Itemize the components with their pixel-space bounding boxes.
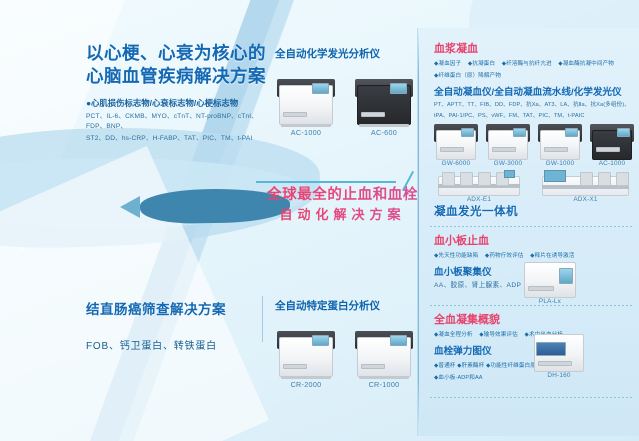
product-card[interactable]: GW-1000 [536,120,584,167]
product-card[interactable]: CR-1000 [353,327,415,389]
clia-group-heading: 全自动化学发光分析仪 [275,46,415,61]
product-card[interactable]: GW-6000 [432,120,480,167]
wholeblood-bullet: ◆凝血全程分析 [434,332,473,338]
clia-product-group: 全自动化学发光分析仪 AC-1000 AC-600 [275,46,415,137]
analyzer-illustration [530,330,588,372]
workflow-line-illustration [434,170,524,196]
arrow-tip-icon [120,196,140,218]
product-caption: CR-2000 [275,380,337,389]
product-caption: GW-1000 [536,160,584,167]
product-card[interactable]: GW-3000 [484,120,532,167]
product-card[interactable]: DH-160 [530,330,588,379]
product-card[interactable]: AC-1000 [588,120,636,167]
product-caption: AC-1000 [588,160,636,167]
analyzer-illustration [588,120,636,160]
analyzer-illustration [520,258,580,298]
cardio-markers-line2: ST2、DD、hs-CRP、H-FABP、TAT、PIC、TM、t-PAI [86,134,276,144]
cardio-markers-line1: PCT、IL-6、CKMB、MYO、cTnT、NT-proBNP、cTnI、FD… [86,112,276,131]
poster-canvas: 以心梗、心衰为核心的 心脑血管疾病解决方案 ●心肌损伤标志物/心衰标志物/心梗标… [0,0,639,441]
product-caption: ADX-X1 [538,196,633,203]
plasma-bullet: ◆凝血因子 [434,61,461,67]
wholeblood-bullet: ◆输导效果评估 [479,332,518,338]
wholeblood-title: 全血凝集概貌 [434,313,634,327]
product-caption: PLA-Lx [520,298,580,305]
plasma-bullets-row1: ◆凝血因子 ◆抗凝蛋白 ◆纤溶酶与抗纤亢进 ◆凝血酶抗凝中间产物 [434,60,634,68]
product-caption: GW-6000 [432,160,480,167]
product-caption: CR-1000 [353,380,415,389]
platelet-title: 血小板止血 [434,234,634,248]
plasma-bullet: ◆凝血酶抗凝中间产物 [558,61,614,67]
workflow-line-illustration [538,170,633,196]
colorectal-title: 结直肠癌筛查解决方案 [86,300,271,319]
platelet-bullet: ◆药物疗效评估 [485,253,524,259]
center-headline-line1: 全球最全的止血和血栓 [255,186,430,205]
plasma-device-row: GW-6000 GW-3000 GW-1000 AC-1000 [432,120,636,167]
plasma-footer-title: 凝血发光一体机 [434,205,634,219]
plasma-footer-title-wrap: 凝血发光一体机 [434,205,634,219]
cardio-title-line1: 以心梗、心衰为核心的 [86,42,276,65]
cardio-title-line2: 心脑血管疾病解决方案 [86,65,276,88]
plasma-bullet: ◆抗凝蛋白 [468,61,495,67]
analyzer-illustration [432,120,480,160]
product-caption: AC-1000 [275,128,337,137]
plasma-bullet: ◆纤维蛋白（原）降解产物 [434,73,501,79]
analyzer-illustration [353,75,415,125]
white-wedge-shape [0,146,269,441]
plasma-line-row: ADX-E1 ADX-X1 [434,170,633,203]
colorectal-solution-block: 结直肠癌筛查解决方案 FOB、钙卫蛋白、转铁蛋白 [86,300,271,352]
panel-dot-divider [430,397,632,398]
center-title-rule [256,181,396,183]
panel-dot-divider [430,305,632,306]
product-card[interactable]: AC-600 [353,75,415,137]
panel-dot-divider [430,226,632,227]
analyzer-illustration [275,327,337,377]
protein-product-group: 全自动特定蛋白分析仪 CR-2000 CR-1000 [275,298,415,389]
product-caption: ADX-E1 [434,196,524,203]
center-headline: 全球最全的止血和血栓 自动化解决方案 [255,186,430,224]
product-caption: AC-600 [353,128,415,137]
platelet-bullet: ◆先天性功能缺陷 [434,253,478,259]
product-caption: DH-160 [530,372,588,379]
analyzer-illustration [484,120,532,160]
analyzer-illustration [536,120,584,160]
cardio-bullet: ●心肌损伤标志物/心衰标志物/心梗标志物 [86,97,276,109]
panel-divider [418,28,419,429]
product-card[interactable]: PLA-Lx [520,258,580,305]
panel-section-plasma: 血浆凝血 ◆凝血因子 ◆抗凝蛋白 ◆纤溶酶与抗纤亢进 ◆凝血酶抗凝中间产物 ◆纤… [434,42,634,120]
product-card[interactable]: CR-2000 [275,327,337,389]
product-caption: GW-3000 [484,160,532,167]
colorectal-markers: FOB、钙卫蛋白、转铁蛋白 [86,337,271,352]
product-card[interactable]: ADX-E1 [434,170,524,203]
cardio-solution-block: 以心梗、心衰为核心的 心脑血管疾病解决方案 ●心肌损伤标志物/心衰标志物/心梗标… [86,42,276,144]
analyzer-illustration [353,327,415,377]
plasma-markers-line2: tPA、PAI-1/PC、PS、vWF、FM、TAT、PIC、TM、t-PAIC [434,112,634,120]
product-card[interactable]: ADX-X1 [538,170,633,203]
plasma-markers-line1: PT、APTT、TT、FIB、DD、FDP、抗Xa、AT3、LA、抗Ⅱa、抗Xa… [434,101,634,109]
plasma-bullets-row2: ◆纤维蛋白（原）降解产物 [434,72,634,80]
analyzer-illustration [275,75,337,125]
plasma-subtitle: 全自动凝血仪/全自动凝血流水线/化学发光仪 [434,86,634,99]
center-headline-line2: 自动化解决方案 [255,205,430,224]
product-card[interactable]: AC-1000 [275,75,337,137]
section-vertical-divider [262,296,263,342]
protein-group-heading: 全自动特定蛋白分析仪 [275,298,415,313]
plasma-bullet: ◆纤溶酶与抗纤亢进 [502,61,552,67]
plasma-title: 血浆凝血 [434,42,634,56]
